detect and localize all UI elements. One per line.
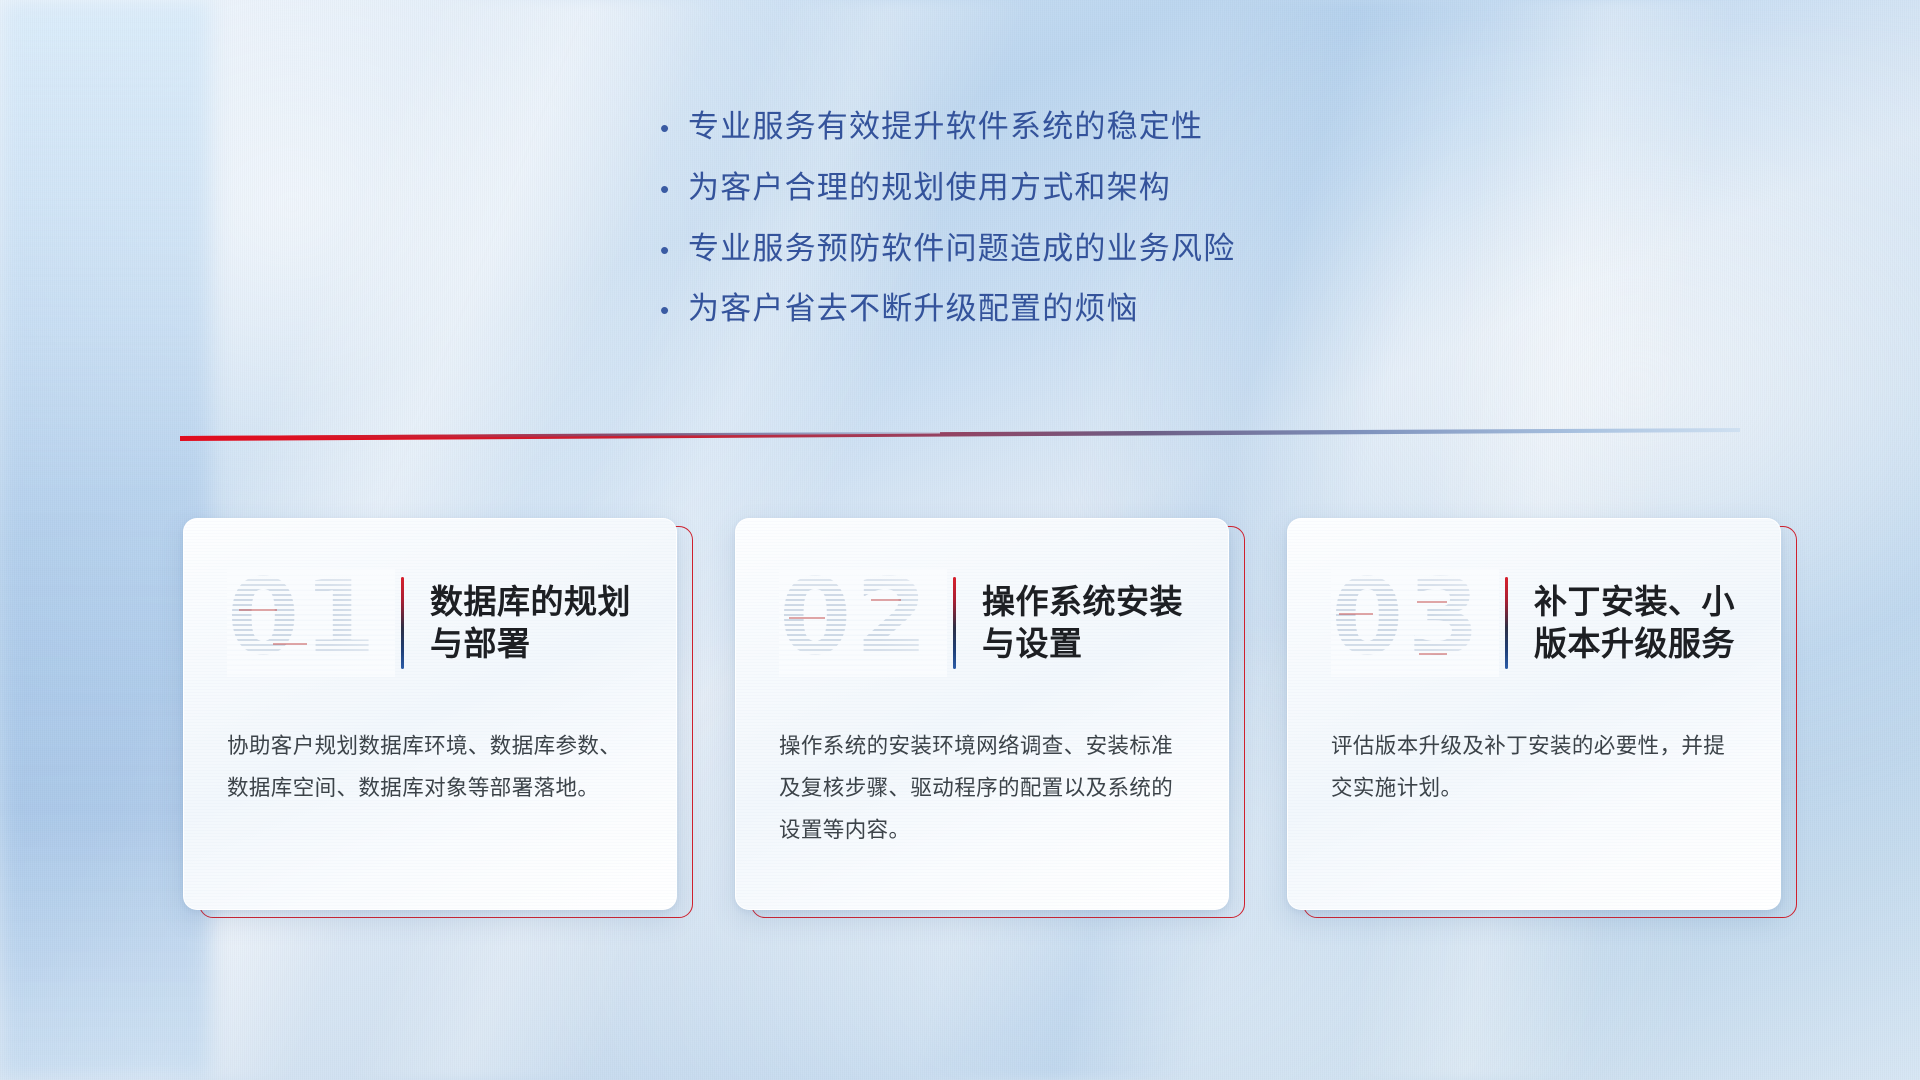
card-title: 操作系统安装与设置 (982, 581, 1185, 665)
section-divider (180, 418, 1740, 444)
card-content: 02 操作系统安装与设置 操作系统的安装环境网络调查、安装标准及复核步骤、驱动程… (779, 564, 1185, 910)
service-card-03[interactable]: 03 补丁安装、小版本升级服务 评估版本升级及补丁安装的必要性，并提交实施计划。 (1287, 518, 1781, 910)
card-body-text: 评估版本升级及补丁安装的必要性，并提交实施计划。 (1331, 726, 1737, 810)
card-row: 01 数据库的规划与部署 协助客户规划数据库环境、数据库参数、数据库空间、数据库… (183, 518, 1783, 910)
card-title: 补丁安装、小版本升级服务 (1534, 581, 1737, 665)
service-card-01[interactable]: 01 数据库的规划与部署 协助客户规划数据库环境、数据库参数、数据库空间、数据库… (183, 518, 677, 910)
bullet-dot-icon: • (660, 237, 688, 263)
card-content: 01 数据库的规划与部署 协助客户规划数据库环境、数据库参数、数据库空间、数据库… (227, 564, 633, 910)
card-content: 03 补丁安装、小版本升级服务 评估版本升级及补丁安装的必要性，并提交实施计划。 (1331, 564, 1737, 910)
card-number-glyph: 03 (1331, 569, 1484, 672)
card-body-text: 协助客户规划数据库环境、数据库参数、数据库空间、数据库对象等部署落地。 (227, 726, 633, 810)
bullet-dot-icon: • (660, 176, 688, 202)
bullet-dot-icon: • (660, 297, 688, 323)
list-item: • 为客户合理的规划使用方式和架构 (660, 169, 1480, 208)
list-item: • 专业服务预防软件问题造成的业务风险 (660, 230, 1480, 269)
card-divider-bar (1505, 577, 1508, 669)
list-item: • 专业服务有效提升软件系统的稳定性 (660, 108, 1480, 147)
card-number: 03 (1331, 569, 1499, 677)
bullet-dot-icon: • (660, 115, 688, 141)
divider-shape-icon (180, 418, 1740, 444)
bullet-text: 专业服务有效提升软件系统的稳定性 (688, 108, 1203, 147)
bullet-text: 为客户省去不断升级配置的烦恼 (688, 290, 1139, 329)
list-item: • 为客户省去不断升级配置的烦恼 (660, 290, 1480, 329)
card-header: 02 操作系统安装与设置 (779, 564, 1185, 682)
card-body-text: 操作系统的安装环境网络调查、安装标准及复核步骤、驱动程序的配置以及系统的设置等内… (779, 726, 1185, 852)
card-number-glyph: 02 (779, 569, 932, 672)
card-header: 01 数据库的规划与部署 (227, 564, 633, 682)
bullet-text: 专业服务预防软件问题造成的业务风险 (688, 230, 1235, 269)
background-left-tint (0, 0, 211, 1080)
slide-root: • 专业服务有效提升软件系统的稳定性 • 为客户合理的规划使用方式和架构 • 专… (0, 0, 1920, 1080)
card-divider-bar (401, 577, 404, 669)
card-number-glyph: 01 (227, 569, 380, 672)
bullet-list: • 专业服务有效提升软件系统的稳定性 • 为客户合理的规划使用方式和架构 • 专… (660, 108, 1480, 351)
card-divider-bar (953, 577, 956, 669)
card-number: 01 (227, 569, 395, 677)
card-header: 03 补丁安装、小版本升级服务 (1331, 564, 1737, 682)
card-title: 数据库的规划与部署 (430, 581, 633, 665)
card-number: 02 (779, 569, 947, 677)
service-card-02[interactable]: 02 操作系统安装与设置 操作系统的安装环境网络调查、安装标准及复核步骤、驱动程… (735, 518, 1229, 910)
bullet-text: 为客户合理的规划使用方式和架构 (688, 169, 1171, 208)
